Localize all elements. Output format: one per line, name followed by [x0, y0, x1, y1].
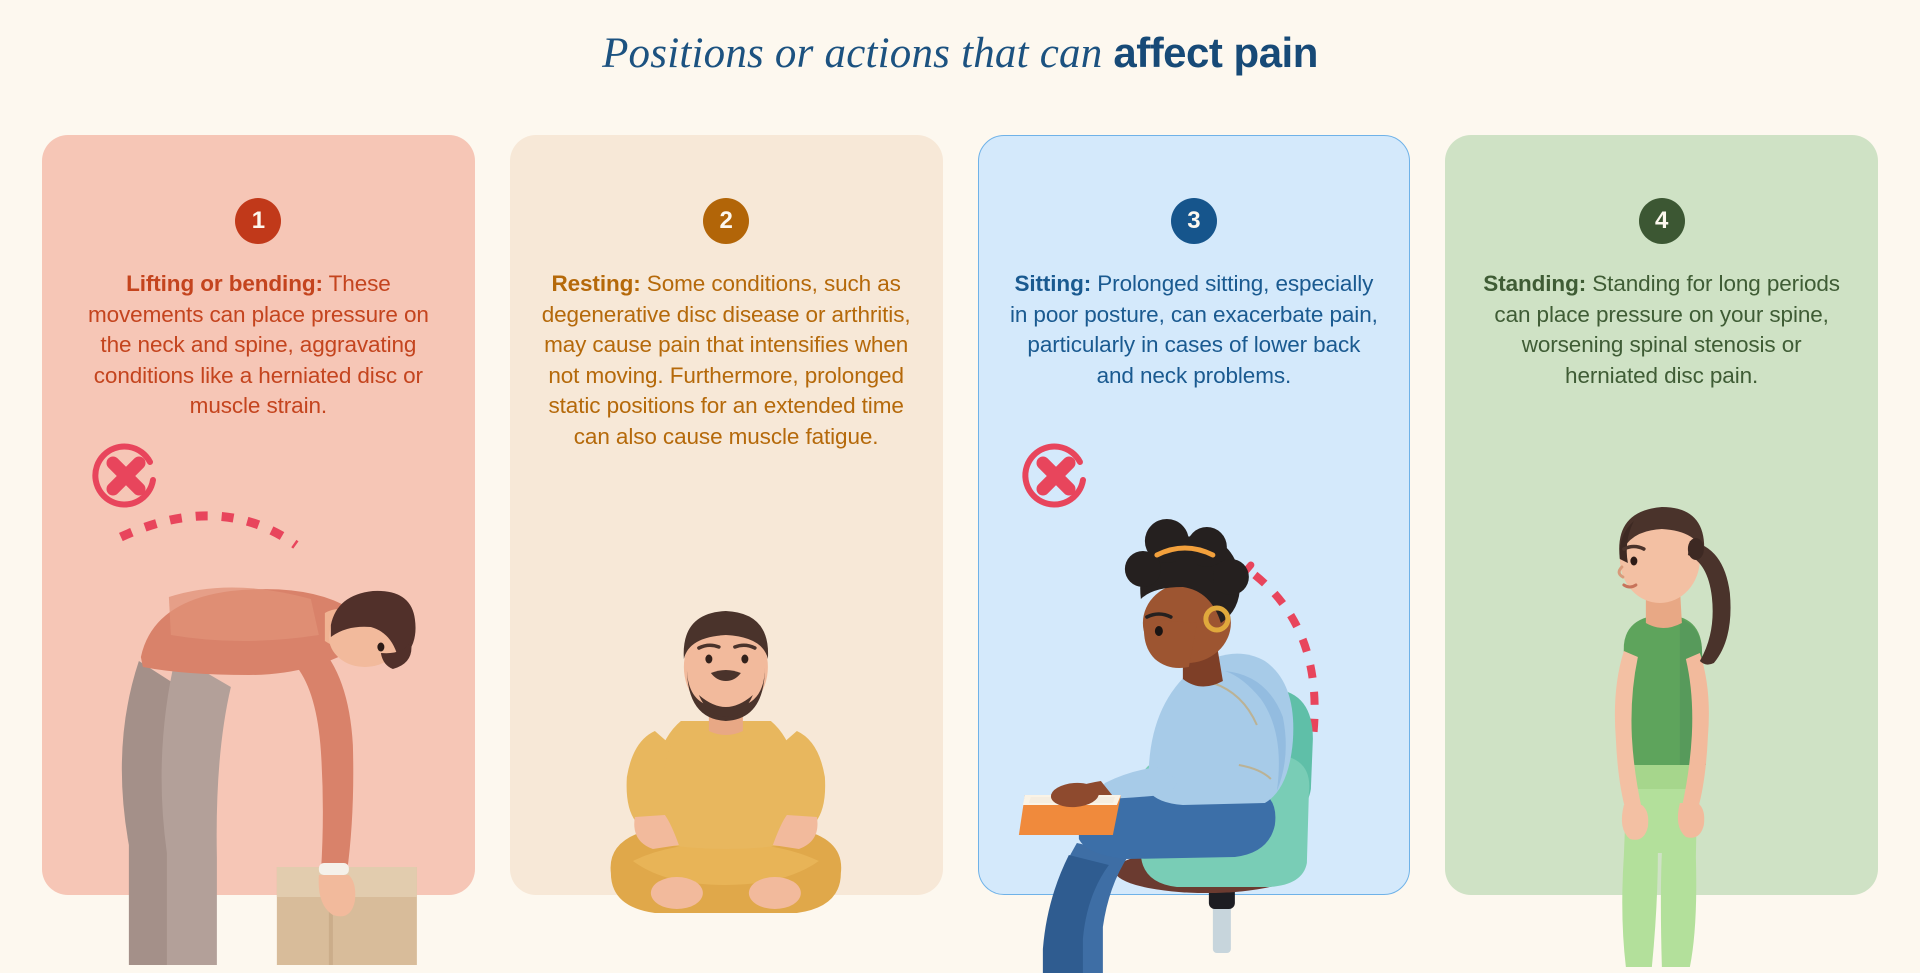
card-standing[interactable]: 4 Standing: Standing for long periods ca…: [1445, 135, 1878, 895]
title-bold-text: affect pain: [1113, 29, 1318, 76]
cards-row: 1 Lifting or bending: These movements ca…: [0, 135, 1920, 964]
card-body-text: Resting: Some conditions, such as degene…: [540, 269, 912, 452]
card-resting[interactable]: 2 Resting: Some conditions, such as dege…: [510, 135, 943, 895]
card-description: Some conditions, such as degenerative di…: [542, 271, 911, 449]
card-background: [510, 135, 943, 895]
card-number-badge: 4: [1639, 198, 1685, 244]
card-body-text: Lifting or bending: These movements can …: [72, 269, 444, 422]
card-background: [1445, 135, 1878, 895]
card-number-badge: 3: [1171, 198, 1217, 244]
card-background: [42, 135, 475, 895]
card-sitting[interactable]: 3 Sitting: Prolonged sitting, especially…: [978, 135, 1411, 895]
card-body-text: Standing: Standing for long periods can …: [1476, 269, 1848, 391]
card-heading: Resting:: [551, 271, 640, 296]
card-lifting-or-bending[interactable]: 1 Lifting or bending: These movements ca…: [42, 135, 475, 895]
x-mark-icon: [90, 440, 162, 512]
card-number-badge: 2: [703, 198, 749, 244]
title-italic-text: Positions or actions that can: [602, 30, 1113, 77]
x-mark-icon: [1020, 440, 1092, 512]
card-body-text: Sitting: Prolonged sitting, especially i…: [1008, 269, 1380, 391]
infographic-page: Positions or actions that can affect pai…: [0, 0, 1920, 964]
card-heading: Standing:: [1483, 271, 1586, 296]
card-background: [978, 135, 1411, 895]
card-heading: Sitting:: [1014, 271, 1091, 296]
page-title: Positions or actions that can affect pai…: [0, 0, 1920, 92]
card-heading: Lifting or bending:: [126, 271, 323, 296]
